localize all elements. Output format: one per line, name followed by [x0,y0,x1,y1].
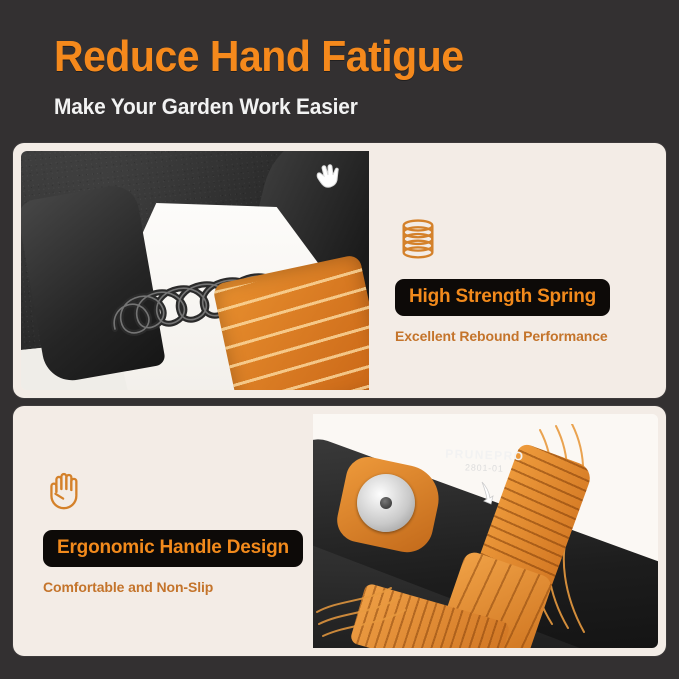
spring-coil-icon [395,215,441,261]
motion-streak-lines-lower [313,554,453,644]
feature-badge-handle: Ergonomic Handle Design [43,530,303,567]
feature-panel-handle: Ergonomic Handle Design Comfortable and … [13,406,666,656]
feature-subtitle-handle: Comfortable and Non-Slip [43,579,313,595]
open-hand-icon [43,466,89,512]
feature-panel-spring: High Strength Spring Excellent Rebound P… [13,143,666,398]
white-pointer-icon [478,480,496,506]
brand-mark: PRUNEPRO 2801-01 [445,447,525,475]
brand-name: PRUNEPRO [445,447,525,464]
handle-text-block: Ergonomic Handle Design Comfortable and … [21,414,313,648]
page-title: Reduce Hand Fatigue [54,34,635,80]
page-subtitle: Make Your Garden Work Easier [54,94,648,120]
white-glove-icon [313,163,343,189]
spring-photo [21,151,369,390]
pivot-bolt [357,474,415,532]
header: Reduce Hand Fatigue Make Your Garden Wor… [0,0,679,120]
handle-photo: PRUNEPRO 2801-01 [313,414,658,648]
product-feature-graphic: Reduce Hand Fatigue Make Your Garden Wor… [0,0,679,679]
feature-subtitle-spring: Excellent Rebound Performance [395,328,658,344]
feature-badge-spring: High Strength Spring [395,279,610,316]
spring-text-block: High Strength Spring Excellent Rebound P… [369,151,658,390]
